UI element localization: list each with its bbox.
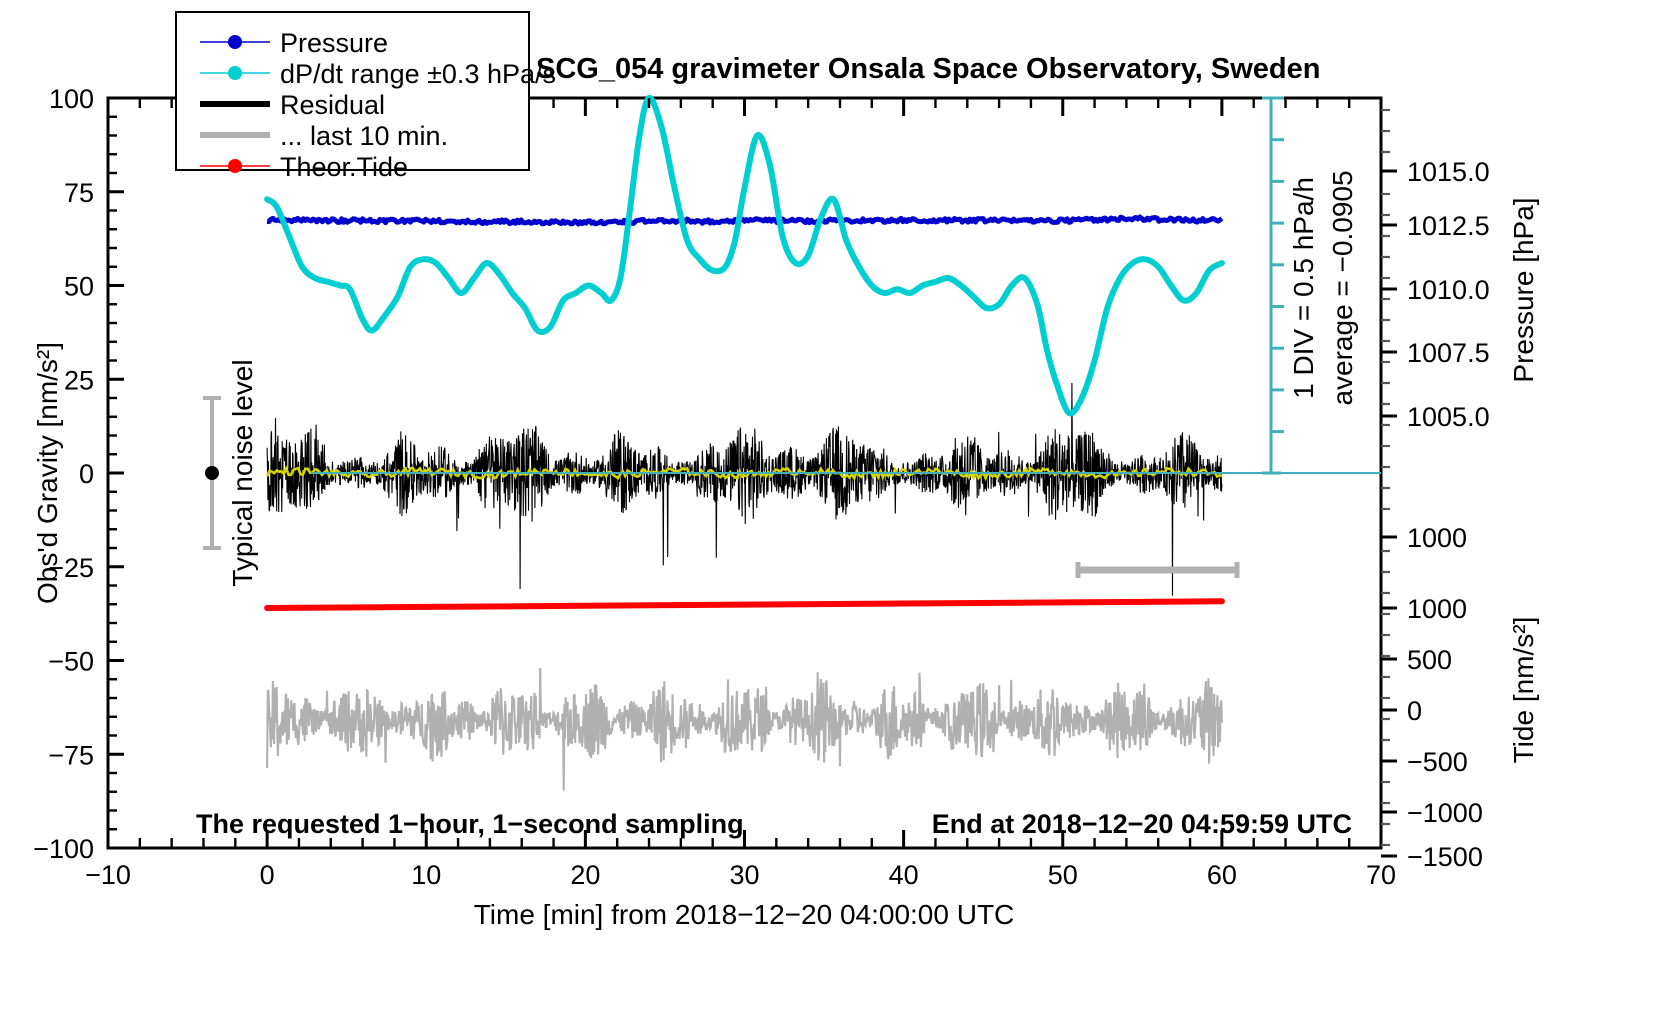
left-axis-title: Obs'd Gravity [nm/s²]: [32, 342, 63, 604]
legend-label-0[interactable]: Pressure: [280, 28, 388, 58]
left-axis-tick-label: −75: [48, 740, 94, 770]
right-pressure-tick-label: 1000: [1407, 523, 1467, 553]
left-axis-tick-label: 50: [64, 272, 94, 302]
bottom-axis-tick-label: 50: [1048, 860, 1078, 890]
dpdt-div-label: 1 DIV = 0.5 hPa/h: [1288, 177, 1319, 399]
legend-marker-dot-0: [228, 35, 242, 49]
annotation-sampling: The requested 1−hour, 1−second sampling: [196, 809, 744, 839]
bottom-axis-tick-label: 0: [260, 860, 275, 890]
legend-marker-dot-4: [228, 159, 242, 173]
left-axis-tick-label: −50: [48, 647, 94, 677]
left-axis-tick-label: 0: [79, 459, 94, 489]
right-pressure-tick-label: 1005.0: [1407, 402, 1490, 432]
right-tide-axis-title: Tide [nm/s²]: [1508, 617, 1539, 764]
right-tide-tick-label: 500: [1407, 645, 1452, 675]
annotation-end-time: End at 2018−12−20 04:59:59 UTC: [932, 809, 1352, 839]
bottom-axis-tick-label: 30: [729, 860, 759, 890]
legend-label-4[interactable]: Theor.Tide: [280, 152, 408, 182]
right-tide-tick-label: −1000: [1407, 798, 1483, 828]
bottom-axis-tick-label: 60: [1207, 860, 1237, 890]
legend-label-3[interactable]: ... last 10 min.: [280, 121, 448, 151]
right-tide-tick-label: −1500: [1407, 842, 1483, 872]
legend-marker-dot-1: [228, 66, 242, 80]
right-pressure-tick-label: 1012.5: [1407, 211, 1490, 241]
chart-root: Typical noise level 1007550250−25−50−75−…: [0, 0, 1676, 1020]
bottom-axis-tick-label: 70: [1366, 860, 1396, 890]
right-pressure-tick-label: 1010.0: [1407, 275, 1490, 305]
left-axis-tick-label: 75: [64, 178, 94, 208]
legend[interactable]: PressuredP/dt range ±0.3 hPa/sResidual..…: [176, 12, 556, 182]
chart-title: SCG_054 gravimeter Onsala Space Observat…: [536, 53, 1320, 85]
legend-label-1[interactable]: dP/dt range ±0.3 hPa/s: [280, 59, 556, 89]
bottom-axis-tick-label: 10: [411, 860, 441, 890]
left-axis-tick-label: 25: [64, 365, 94, 395]
dpdt-average-label: average = −0.0905: [1327, 170, 1358, 405]
bottom-axis-tick-label: −10: [85, 860, 131, 890]
bottom-axis-title: Time [min] from 2018−12−20 04:00:00 UTC: [474, 899, 1015, 930]
bottom-axis-tick-label: 20: [570, 860, 600, 890]
right-tide-tick-label: 0: [1407, 696, 1422, 726]
legend-label-2[interactable]: Residual: [280, 90, 385, 120]
right-pressure-axis-title: Pressure [hPa]: [1508, 197, 1539, 382]
bottom-axis-tick-label: 40: [889, 860, 919, 890]
typical-noise-level-label: Typical noise level: [227, 359, 258, 586]
right-pressure-tick-label: 1007.5: [1407, 338, 1490, 368]
right-pressure-tick-label: 1015.0: [1407, 157, 1490, 187]
left-axis-tick-label: 100: [49, 84, 94, 114]
noise-center-dot: [205, 466, 219, 480]
right-tide-tick-label: −500: [1407, 747, 1468, 777]
right-tide-tick-label: 1000: [1407, 594, 1467, 624]
